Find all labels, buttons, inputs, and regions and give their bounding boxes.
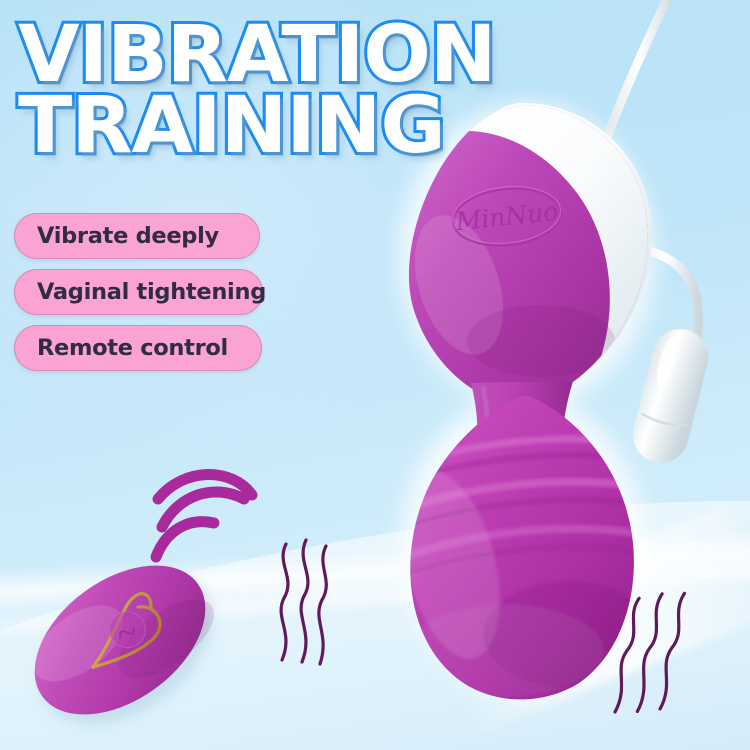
feature-label: Remote control [37,335,228,361]
feature-pill-vibrate-deeply[interactable]: Vibrate deeply [14,213,260,259]
feature-label: Vaginal tightening [37,279,266,305]
title-line-1: VIBRATION [18,22,495,89]
vib-line-1 [614,597,639,713]
vib-line-3 [659,592,685,710]
feature-pill-vaginal-tightening[interactable]: Vaginal tightening [14,269,263,315]
vibration-marks-right [618,588,698,728]
vib-line-2 [301,540,308,662]
product-banner: VIBRATION TRAINING Vibrate deeply Vagina… [0,0,750,750]
vib-line-2 [636,593,662,713]
page-title: VIBRATION TRAINING [18,22,486,160]
vib-line-1 [281,544,288,660]
feature-pill-remote-control[interactable]: Remote control [14,325,262,371]
vibration-marks-left [272,538,342,668]
title-line-2: TRAINING [18,93,495,160]
vib-line-3 [319,546,326,664]
feature-label: Vibrate deeply [37,223,219,249]
wireless-signal-arcs [140,465,260,575]
feature-list: Vibrate deeply Vaginal tightening Remote… [14,213,263,371]
